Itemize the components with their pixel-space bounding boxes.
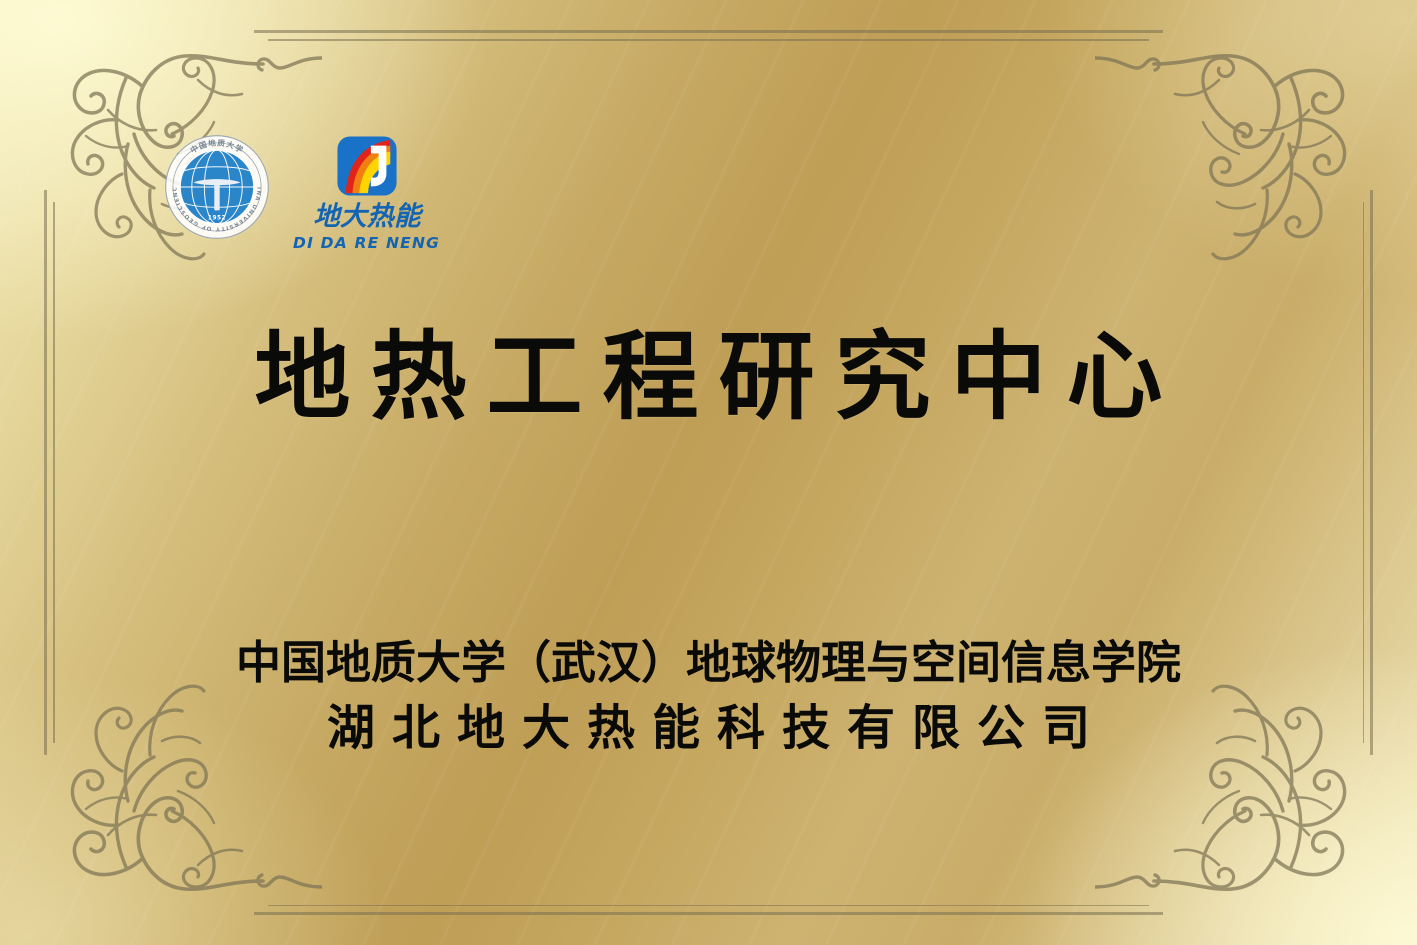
didareneng-cn-text: 地大热能 [297,199,437,233]
subtitle-block: 中国地质大学（武汉）地球物理与空间信息学院 湖北地大热能科技有限公司 [0,636,1417,758]
svg-text:地大热能: 地大热能 [313,201,424,232]
didareneng-logo: 地大热能 DI DA RE NENG [293,135,440,252]
border-rule-bottom-outer [254,912,1163,915]
subtitle-line-university: 中国地质大学（武汉）地球物理与空间信息学院 [0,636,1417,689]
border-rule-top-inner [268,39,1149,41]
border-rule-top-outer [254,30,1163,33]
svg-text:1952: 1952 [208,215,226,221]
plaque-root: 中国地质大学 CHINA UNIVERSITY OF GEOSCIENCES 1… [0,0,1417,945]
cug-seal-logo: 中国地质大学 CHINA UNIVERSITY OF GEOSCIENCES 1… [163,133,271,241]
subtitle-line-company: 湖北地大热能科技有限公司 [0,699,1417,758]
border-rule-bottom-inner [268,905,1149,907]
corner-flourish-top-right [1095,14,1395,264]
didareneng-mark-icon [336,135,398,197]
logo-row: 中国地质大学 CHINA UNIVERSITY OF GEOSCIENCES 1… [163,133,440,252]
didareneng-en-text: DI DA RE NENG [293,236,440,252]
page-title: 地热工程研究中心 [0,326,1417,430]
